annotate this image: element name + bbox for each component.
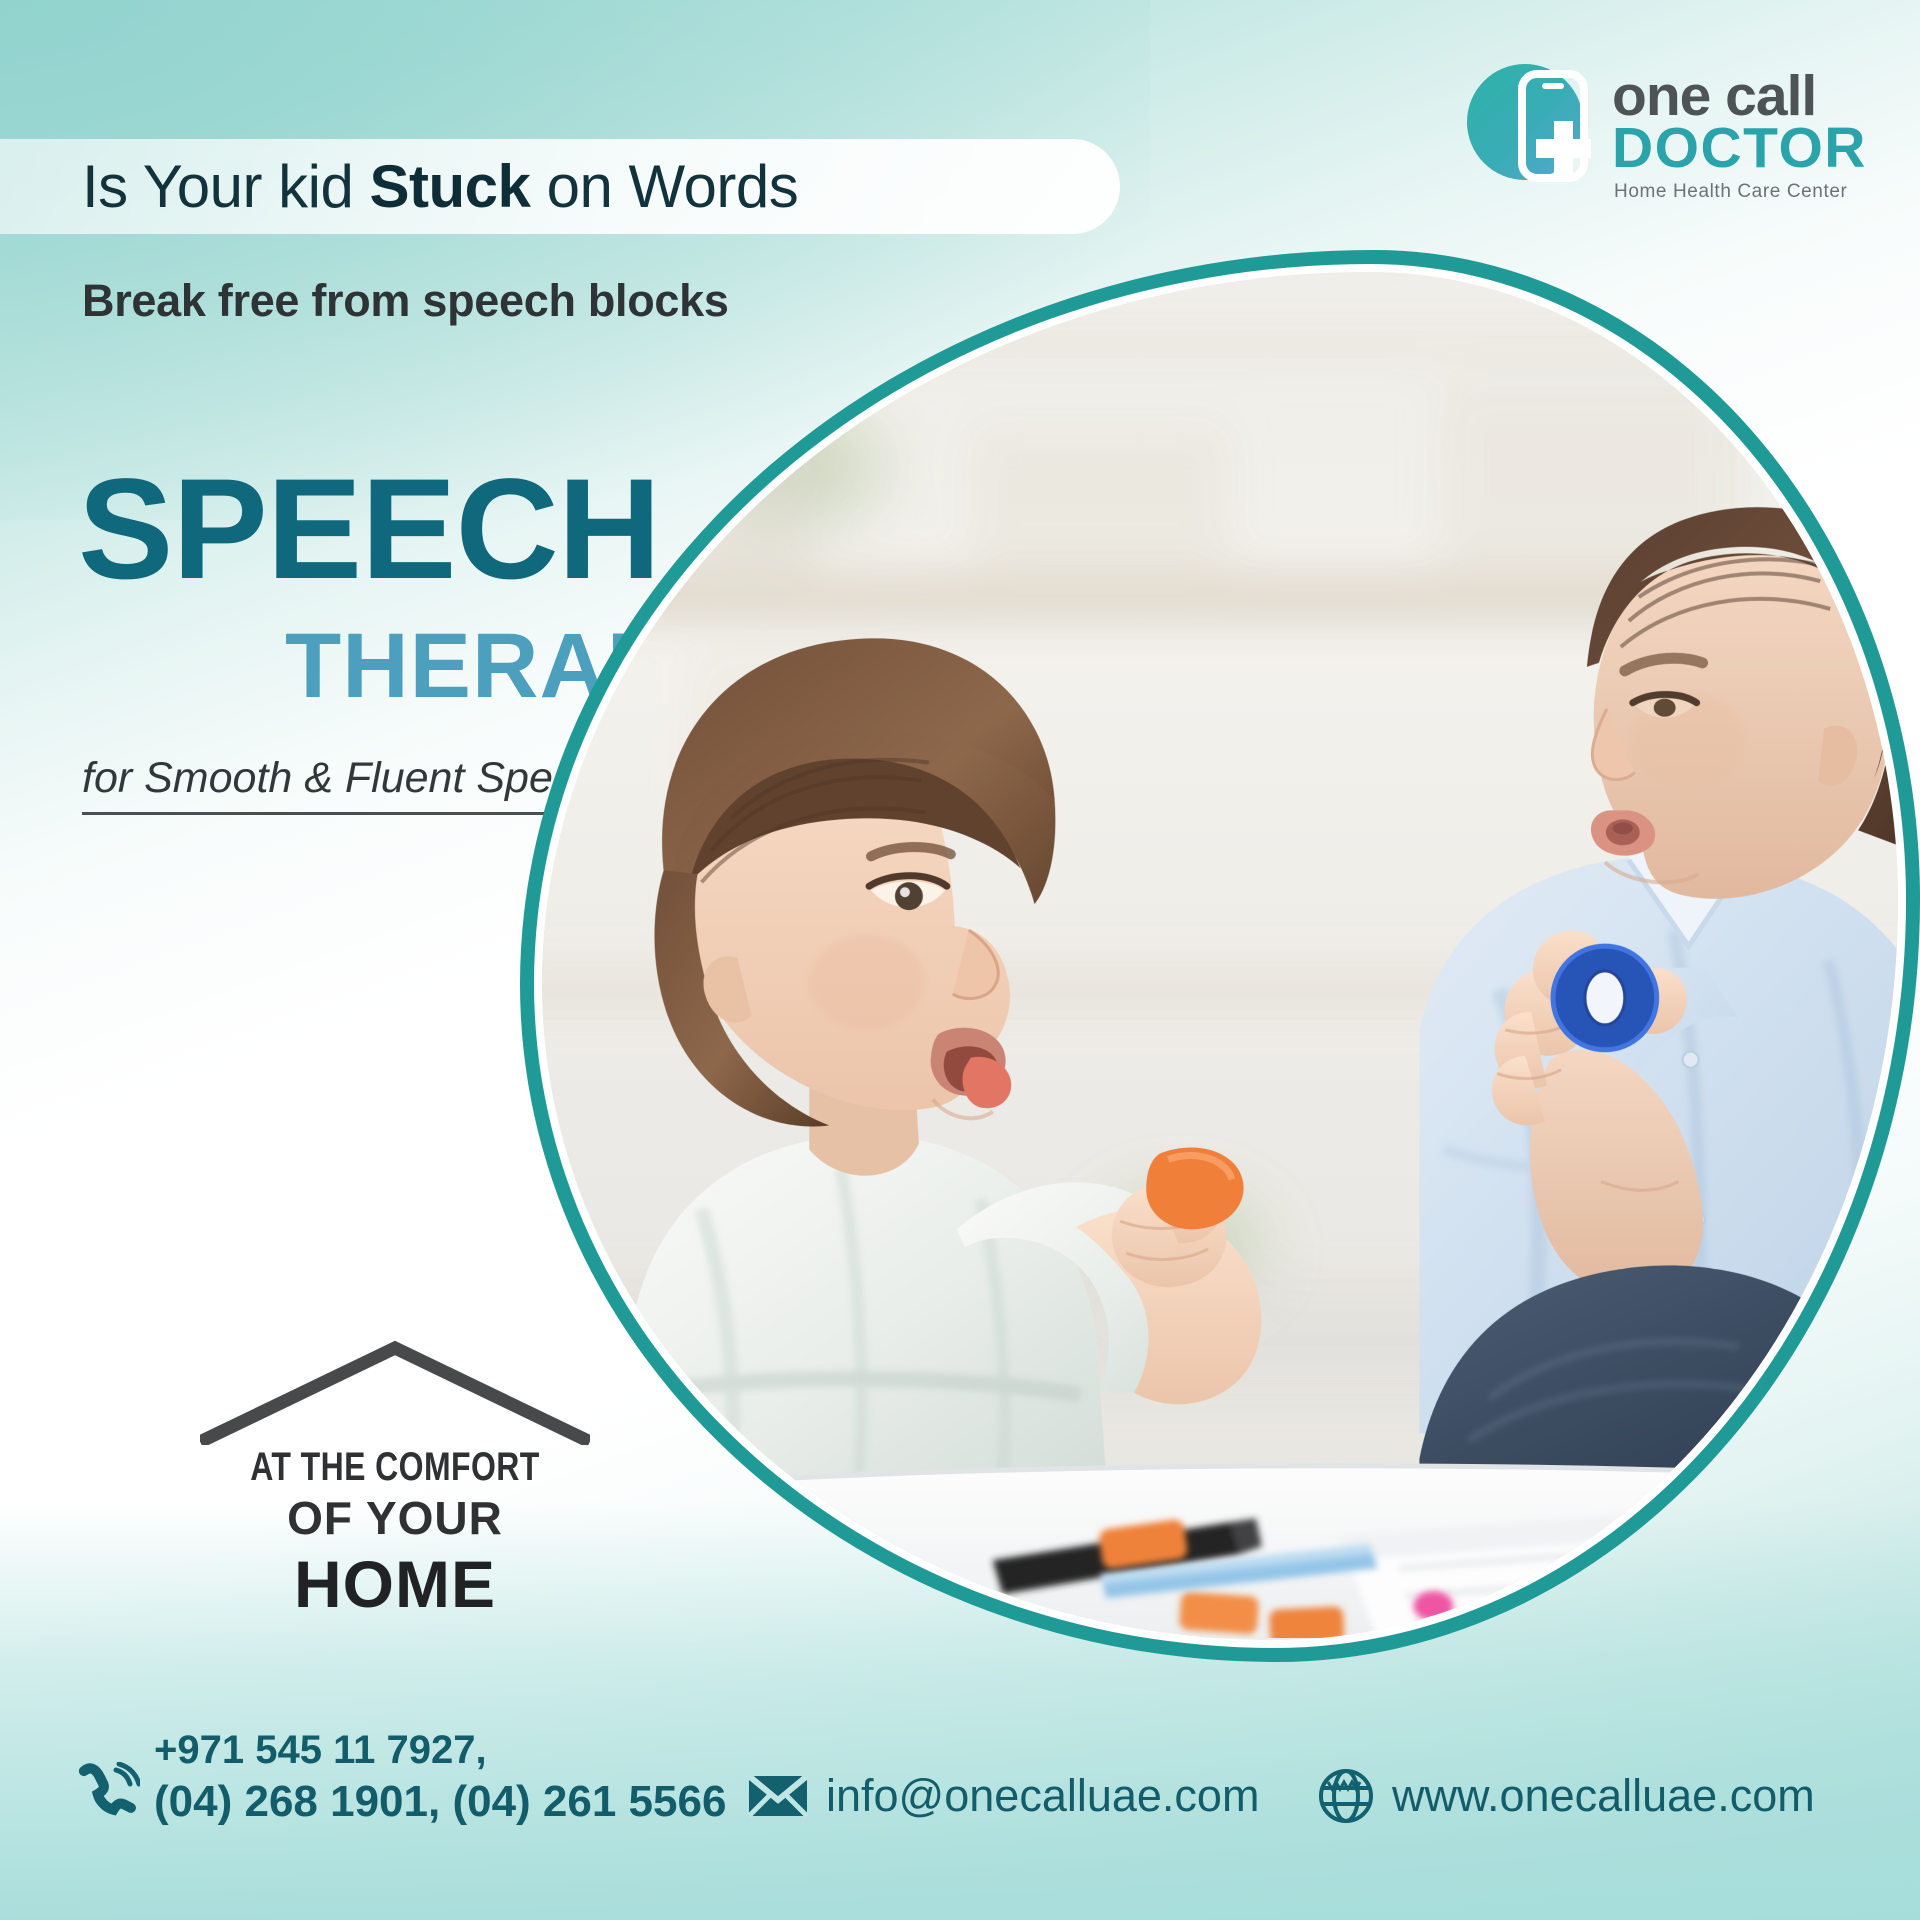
headline-suffix: on Words [530, 153, 798, 220]
phone-line-1: +971 545 11 7927, [154, 1726, 726, 1774]
photo-clip [542, 272, 1898, 1640]
globe-icon [1318, 1768, 1374, 1824]
phone-ringing-icon [78, 1762, 140, 1824]
hero-photo [520, 250, 1920, 1662]
brand-logo[interactable]: one call DOCTOR Home Health Care Center [1462, 48, 1882, 208]
headline-prefix: Is Your kid [82, 153, 370, 220]
headline: Is Your kid Stuck on Words [82, 147, 798, 227]
email-text: info@onecalluae.com [826, 1768, 1259, 1824]
therapy-session-photo [542, 272, 1898, 1638]
phone-medical-cross-icon [1462, 56, 1600, 194]
logo-word-doctor: DOCTOR [1612, 120, 1867, 177]
comfort-line-1: AT THE COMFORT [239, 1445, 551, 1489]
logo-tagline: Home Health Care Center [1614, 181, 1847, 203]
headline-emphasis: Stuck [370, 153, 531, 220]
poster-canvas: Is Your kid Stuck on Words Break free fr… [0, 0, 1920, 1920]
contact-bar: +971 545 11 7927, (04) 268 1901, (04) 26… [0, 1680, 1920, 1920]
contact-email[interactable]: info@onecalluae.com [748, 1768, 1259, 1824]
phone-line-2: (04) 268 1901, (04) 261 5566 [154, 1774, 726, 1830]
contact-website[interactable]: www.onecalluae.com [1318, 1768, 1815, 1824]
contact-phone[interactable]: +971 545 11 7927, (04) 268 1901, (04) 26… [78, 1726, 726, 1830]
envelope-icon [748, 1773, 808, 1819]
website-text: www.onecalluae.com [1392, 1768, 1815, 1824]
